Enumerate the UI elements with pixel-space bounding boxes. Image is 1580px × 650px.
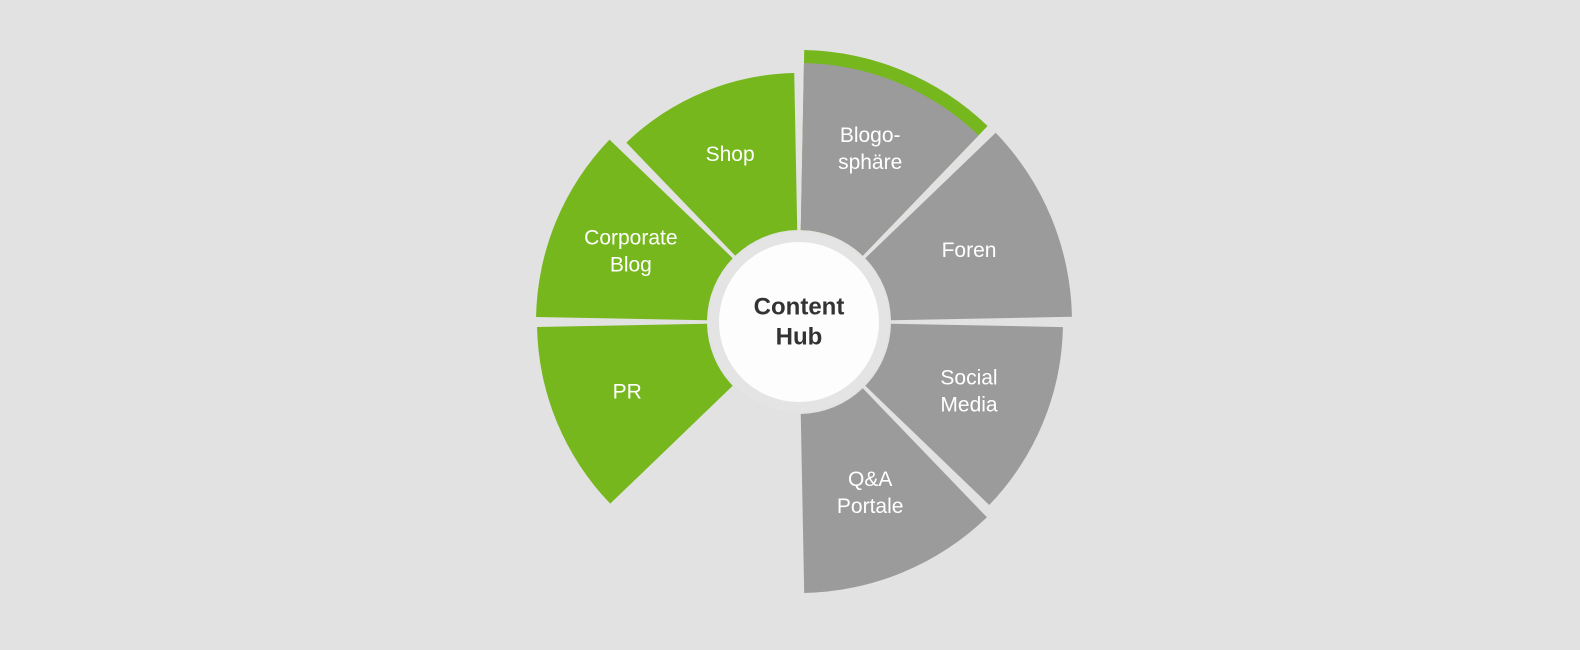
segment-pr[interactable]: PR xyxy=(537,324,733,504)
content-hub-diagram: WebsiteShopCorporateBlogPRBlogo-sphäreFo… xyxy=(0,0,1580,650)
hub-center-group: Content Hub xyxy=(709,232,889,412)
hub-disc[interactable] xyxy=(719,242,879,402)
content-hub-wheel: WebsiteShopCorporateBlogPRBlogo-sphäreFo… xyxy=(0,0,1580,650)
segment-shape-pr[interactable] xyxy=(537,324,733,504)
